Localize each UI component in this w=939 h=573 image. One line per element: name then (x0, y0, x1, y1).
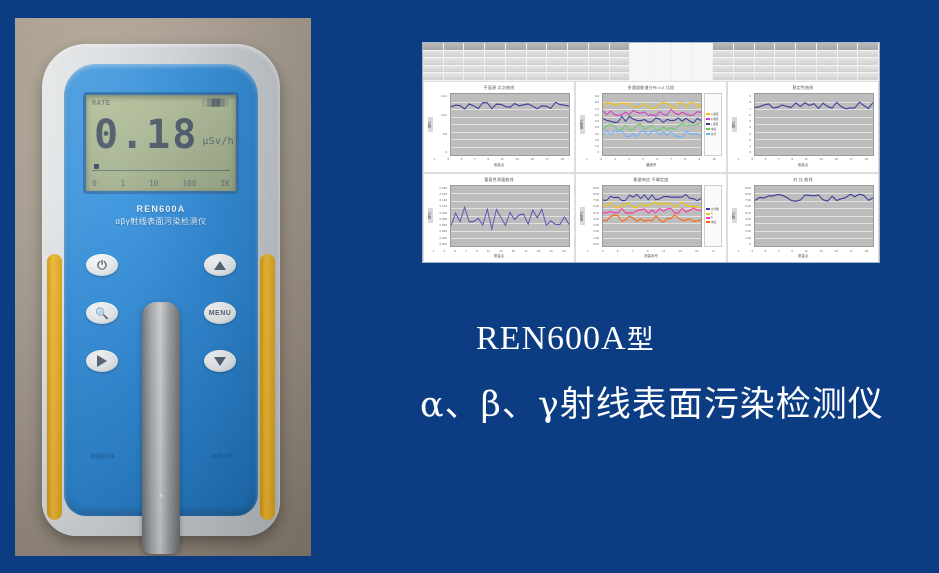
table-cell (589, 73, 610, 80)
table-cell (693, 66, 714, 73)
legend-label: 总计数 (711, 207, 719, 211)
table-cell (630, 51, 651, 58)
device-model-name: REN600A (64, 204, 258, 214)
chart-y-ticks: 0.1800.1600.1400.1200.1000.0800.0600.040… (435, 185, 448, 248)
table-cell (630, 66, 651, 73)
legend-swatch (706, 128, 710, 130)
table-cell (485, 66, 506, 73)
table-cell (734, 66, 755, 73)
table-cell (444, 43, 465, 50)
table-cell (713, 43, 734, 50)
table-cell (672, 51, 693, 58)
chart-x-axis-label: 测量点 (732, 254, 874, 260)
table-cell (672, 58, 693, 65)
table-cell (817, 73, 838, 80)
chart-plot-area (754, 185, 874, 248)
table-cell (775, 51, 796, 58)
table-cell (796, 51, 817, 58)
power-icon: ⏻ (97, 258, 107, 273)
table-row (423, 51, 879, 59)
table-cell (796, 58, 817, 65)
chart-y-ticks: 9.008.007.006.005.004.003.002.001.000 (739, 185, 752, 248)
chart-x-axis-label: 通道号 (580, 163, 722, 169)
table-cell (734, 73, 755, 80)
table-cell (817, 51, 838, 58)
report-chart: 平面源 点次曲线计数12.010.08.00135791113151719测量点 (423, 81, 575, 173)
lcd-status-right: ░▒██▒░ (202, 99, 230, 111)
detector-device: RATE ░▒██▒░ 0.18 μSv/h 0 1 10 100 1K (42, 44, 280, 536)
chart-y-axis-label: 计数 (732, 185, 737, 248)
table-row (423, 58, 879, 66)
table-cell (693, 73, 714, 80)
down-button[interactable] (204, 350, 236, 372)
table-cell (464, 43, 485, 50)
play-button[interactable] (86, 350, 118, 372)
chart-y-axis-label: 计数率 (580, 93, 585, 156)
chart-x-axis-label: 测量点 (732, 163, 874, 169)
legend-label: β 通道 (711, 117, 718, 121)
power-button[interactable]: ⏻ (86, 254, 118, 276)
chart-x-axis-label: 测量点 (428, 254, 570, 260)
report-chart: 能量响应 不确定度计数率9.008.007.006.005.004.003.00… (575, 173, 727, 264)
table-cell (506, 58, 527, 65)
table-cell (589, 66, 610, 73)
table-cell (506, 66, 527, 73)
chart-x-ticks: 1357911131517192123 (428, 247, 570, 254)
headline-model: REN600A型 (420, 318, 939, 358)
table-cell (506, 43, 527, 50)
table-cell (734, 58, 755, 65)
lcd-scale-tick: 1 (120, 179, 125, 188)
legend-item: α (706, 212, 720, 215)
table-row (423, 43, 879, 51)
report-chart: 重复性测量曲线计数0.1800.1600.1400.1200.1000.0800… (423, 173, 575, 264)
chart-x-axis-label: 测量序号 (580, 254, 722, 260)
lcd-value: 0.18 (94, 117, 198, 154)
legend-swatch (706, 213, 710, 215)
table-cell (651, 73, 672, 80)
table-cell (775, 66, 796, 73)
lcd-reading: 0.18 μSv/h (94, 117, 234, 154)
table-cell (444, 58, 465, 65)
legend-swatch (706, 113, 710, 115)
product-photo: RATE ░▒██▒░ 0.18 μSv/h 0 1 10 100 1K (15, 18, 311, 556)
table-cell (527, 43, 548, 50)
triangle-up-icon (214, 261, 226, 270)
chart-plot-area (602, 185, 702, 248)
chart-x-ticks: 1357911131517 (580, 247, 722, 254)
lcd-status-bar: RATE ░▒██▒░ (92, 99, 230, 111)
menu-button[interactable]: MENU (204, 302, 236, 324)
table-cell (464, 58, 485, 65)
lcd-scale-tick: 10 (149, 179, 159, 188)
legend-label: α (711, 212, 713, 215)
table-cell (547, 73, 568, 80)
device-model-print: REN600A αβγ射线表面污染检测仪 (64, 204, 258, 227)
legend-label: γ 通道 (711, 122, 718, 126)
table-cell (651, 51, 672, 58)
chart-y-ticks: 9.08.07.06.05.04.03.02.01.00 (587, 93, 600, 156)
table-cell (589, 58, 610, 65)
table-cell (838, 58, 859, 65)
table-cell (630, 73, 651, 80)
chart-title: 能量响应 不确定度 (580, 177, 722, 185)
lcd-scale: 0 1 10 100 1K (92, 179, 230, 188)
report-chart: 多通道能谱分布 α β 比较计数率9.08.07.06.05.04.03.02.… (575, 81, 727, 173)
chart-y-ticks: 12.010.08.00 (435, 93, 448, 156)
table-cell (610, 73, 631, 80)
legend-item: β 通道 (706, 117, 720, 121)
legend-item: α 通道 (706, 112, 720, 116)
legend-label: α 通道 (711, 112, 718, 116)
table-cell (734, 51, 755, 58)
legend-swatch (706, 208, 710, 210)
table-row (423, 66, 879, 74)
table-cell (423, 43, 444, 50)
play-icon (97, 355, 107, 367)
table-cell (693, 51, 714, 58)
chart-plot-area (754, 93, 874, 156)
table-cell (775, 58, 796, 65)
table-cell (485, 43, 506, 50)
chart-x-ticks: 135791113151719 (732, 156, 874, 163)
table-cell (817, 66, 838, 73)
table-cell (755, 51, 776, 58)
chart-plot-area (450, 185, 570, 248)
table-cell (858, 43, 879, 50)
legend-swatch (706, 123, 710, 125)
table-cell (464, 66, 485, 73)
legend-item: 本底 (706, 127, 720, 131)
table-cell (589, 43, 610, 50)
device-footer-right: 有限公司 (212, 453, 232, 460)
hand-strap (142, 302, 180, 554)
table-cell (734, 43, 755, 50)
table-cell (485, 58, 506, 65)
table-cell (838, 51, 859, 58)
up-button[interactable] (204, 254, 236, 276)
table-cell (838, 43, 859, 50)
lcd-scale-tick: 100 (182, 179, 196, 188)
table-cell (568, 43, 589, 50)
table-cell (713, 58, 734, 65)
table-cell (527, 66, 548, 73)
table-cell (547, 51, 568, 58)
table-cell (796, 66, 817, 73)
chart-x-ticks: 135791113151719 (428, 156, 570, 163)
table-cell (693, 43, 714, 50)
legend-swatch (706, 221, 710, 223)
table-cell (464, 51, 485, 58)
table-cell (610, 58, 631, 65)
table-cell (444, 66, 465, 73)
table-cell (423, 73, 444, 80)
chart-x-ticks: 135791113151719 (732, 247, 874, 254)
magnifier-icon: 🔍 (95, 307, 109, 320)
report-data-table (423, 43, 879, 81)
legend-item: γ 通道 (706, 122, 720, 126)
legend-label: 总计 (711, 132, 716, 136)
table-cell (444, 51, 465, 58)
table-cell (568, 51, 589, 58)
chart-y-ticks: 9876543210 (739, 93, 752, 156)
table-cell (547, 43, 568, 50)
triangle-down-icon (214, 357, 226, 366)
table-cell (755, 58, 776, 65)
report-chart: 对 比 曲线计数9.008.007.006.005.004.003.002.00… (727, 173, 879, 264)
table-cell (817, 58, 838, 65)
table-cell (547, 58, 568, 65)
table-cell (423, 58, 444, 65)
software-report-image: 平面源 点次曲线计数12.010.08.00135791113151719测量点… (422, 42, 880, 263)
table-cell (630, 43, 651, 50)
table-cell (423, 51, 444, 58)
table-cell (838, 66, 859, 73)
table-cell (672, 73, 693, 80)
chart-y-axis-label: 计数 (428, 93, 433, 156)
table-row (423, 73, 879, 81)
table-cell (693, 58, 714, 65)
chart-y-ticks: 9.008.007.006.005.004.003.002.001.000.00 (587, 185, 600, 248)
table-cell (527, 73, 548, 80)
legend-swatch (706, 118, 710, 120)
legend-item: 总计 (706, 132, 720, 136)
table-cell (858, 58, 879, 65)
chart-legend: 总计数αβ本底 (704, 185, 722, 248)
legend-swatch (706, 217, 710, 219)
lcd-status-left: RATE (92, 99, 110, 111)
chart-x-ticks: 12345678910 (580, 156, 722, 163)
headline-block: REN600A型 α、β、γ射线表面污染检测仪 (420, 318, 939, 427)
table-cell (547, 66, 568, 73)
table-cell (775, 73, 796, 80)
menu-button-label: MENU (209, 310, 232, 317)
chart-title: 多通道能谱分布 α β 比较 (580, 85, 722, 93)
table-cell (610, 51, 631, 58)
table-cell (672, 43, 693, 50)
legend-item: β (706, 216, 720, 219)
table-cell (672, 66, 693, 73)
table-cell (651, 43, 672, 50)
table-cell (589, 51, 610, 58)
chart-title: 平面源 点次曲线 (428, 85, 570, 93)
table-cell (464, 73, 485, 80)
chart-title: 重复性测量曲线 (428, 177, 570, 185)
side-rail-right (260, 254, 275, 520)
table-cell (630, 58, 651, 65)
table-cell (755, 66, 776, 73)
side-rail-left (47, 254, 62, 520)
table-cell (713, 51, 734, 58)
table-cell (568, 58, 589, 65)
chart-legend: α 通道β 通道γ 通道本底总计 (704, 93, 722, 156)
lcd-unit: μSv/h (202, 136, 234, 147)
table-cell (527, 58, 548, 65)
lcd-scale-tick: 1K (220, 179, 230, 188)
table-cell (651, 58, 672, 65)
headline-model-text: REN600A (476, 320, 627, 357)
table-cell (838, 73, 859, 80)
table-cell (796, 73, 817, 80)
table-cell (651, 66, 672, 73)
chart-title: 对 比 曲线 (732, 177, 874, 185)
table-cell (610, 43, 631, 50)
table-cell (796, 43, 817, 50)
table-cell (713, 66, 734, 73)
search-button[interactable]: 🔍 (86, 302, 118, 324)
chart-y-axis-label: 计数率 (580, 185, 585, 248)
headline-description: α、β、γ射线表面污染检测仪 (420, 376, 939, 427)
lcd-scale-tick: 0 (92, 179, 97, 188)
lcd-screen: RATE ░▒██▒░ 0.18 μSv/h 0 1 10 100 1K (83, 92, 239, 194)
chart-y-axis-label: 计数 (428, 185, 433, 248)
table-cell (506, 73, 527, 80)
table-cell (858, 51, 879, 58)
legend-label: 本底 (711, 220, 716, 224)
chart-x-axis-label: 测量点 (428, 163, 570, 169)
legend-item: 总计数 (706, 207, 720, 211)
chart-title: 稳定性曲线 (732, 85, 874, 93)
table-cell (444, 73, 465, 80)
report-chart: 稳定性曲线计数9876543210135791113151719测量点 (727, 81, 879, 173)
report-chart-grid: 平面源 点次曲线计数12.010.08.00135791113151719测量点… (423, 81, 879, 263)
legend-label: 本底 (711, 127, 716, 131)
table-cell (713, 73, 734, 80)
table-cell (775, 43, 796, 50)
lcd-bargraph (92, 166, 230, 171)
headline-model-suffix: 型 (627, 325, 655, 356)
table-cell (817, 43, 838, 50)
chart-plot-area (450, 93, 570, 156)
table-cell (568, 73, 589, 80)
legend-item: 本底 (706, 220, 720, 224)
table-cell (755, 73, 776, 80)
chart-plot-area (602, 93, 702, 156)
legend-label: β (711, 216, 713, 219)
table-cell (568, 66, 589, 73)
table-cell (485, 73, 506, 80)
table-cell (423, 66, 444, 73)
table-cell (610, 66, 631, 73)
table-cell (755, 43, 776, 50)
table-cell (485, 51, 506, 58)
table-cell (506, 51, 527, 58)
legend-swatch (706, 133, 710, 135)
device-footer-left: 核辐射测量 (90, 453, 115, 460)
strap-rivet-icon (160, 494, 163, 497)
table-cell (858, 73, 879, 80)
table-cell (858, 66, 879, 73)
device-model-desc: αβγ射线表面污染检测仪 (64, 216, 258, 227)
chart-y-axis-label: 计数 (732, 93, 737, 156)
table-cell (527, 51, 548, 58)
